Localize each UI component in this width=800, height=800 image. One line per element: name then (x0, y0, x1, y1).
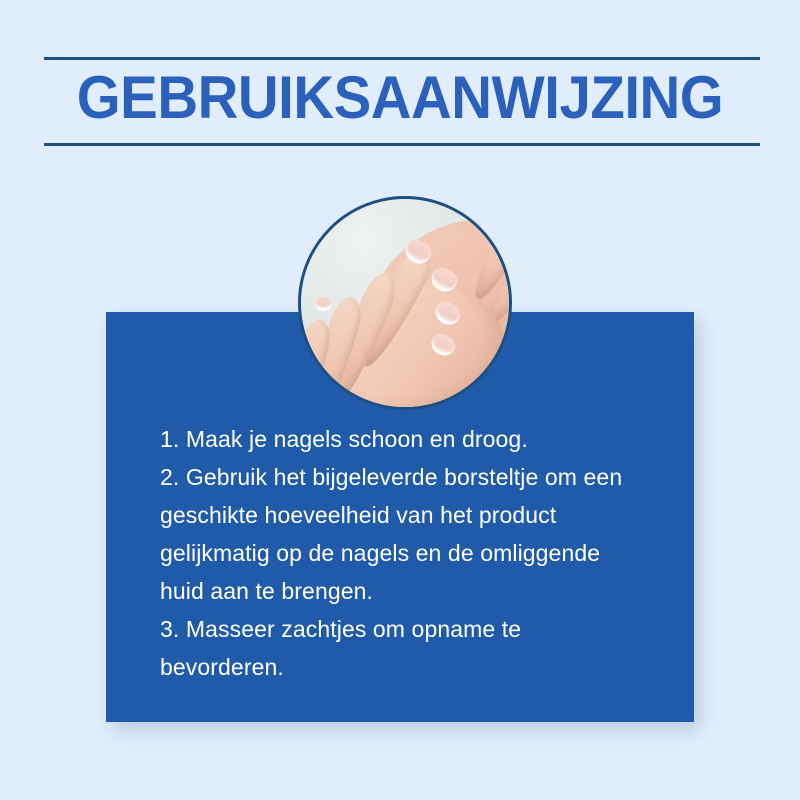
instruction-line: huid aan te brengen. (160, 572, 680, 610)
title-divider-top (44, 57, 760, 60)
fingernail (314, 296, 331, 312)
instruction-line: 2. Gebruik het bijgeleverde borsteltje o… (160, 458, 680, 496)
header: GEBRUIKSAANWIJZING (0, 0, 800, 160)
title-divider-bottom (44, 143, 760, 146)
instructions-text-block: 1. Maak je nagels schoon en droog. 2. Ge… (160, 420, 680, 686)
instruction-line: gelijkmatig op de nagels en de omliggend… (160, 534, 680, 572)
photo-inner (301, 199, 509, 407)
instruction-line: geschikte hoeveelheid van het product (160, 496, 680, 534)
hands-with-manicured-nails-photo (298, 196, 512, 410)
instruction-line: bevorderen. (160, 648, 680, 686)
instruction-card-page: GEBRUIKSAANWIJZING 1. Maak je nagels sch… (0, 0, 800, 800)
instruction-line: 3. Masseer zachtjes om opname te (160, 610, 680, 648)
page-title: GEBRUIKSAANWIJZING (24, 64, 776, 132)
instruction-line: 1. Maak je nagels schoon en droog. (160, 420, 680, 458)
